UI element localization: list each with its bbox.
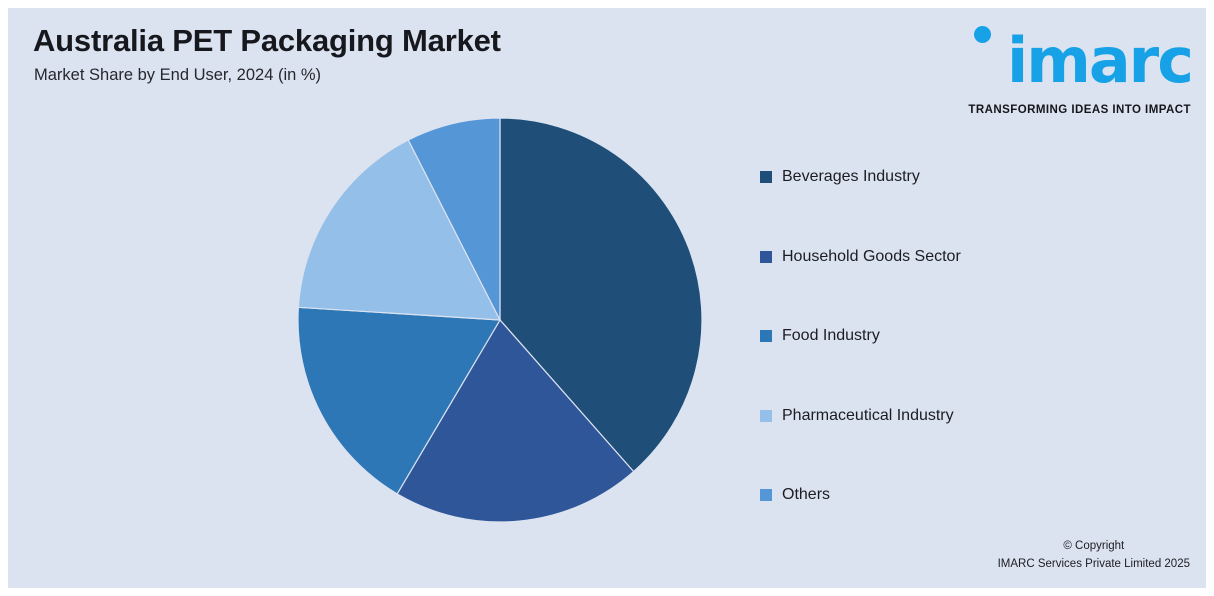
legend-item-label: Others <box>782 486 830 504</box>
legend-item-label: Household Goods Sector <box>782 248 961 266</box>
logo-wordmark: imarc <box>1007 30 1192 92</box>
chart-legend: Beverages Industry Household Goods Secto… <box>760 168 1180 566</box>
legend-item[interactable]: Pharmaceutical Industry <box>760 407 1180 487</box>
legend-item-label: Beverages Industry <box>782 168 920 186</box>
copyright-notice: © Copyright IMARC Services Private Limit… <box>998 538 1190 574</box>
logo-tagline: TRANSFORMING IDEAS INTO IMPACT <box>968 104 1191 116</box>
pie-chart <box>8 8 748 588</box>
legend-item-label: Food Industry <box>782 327 880 345</box>
legend-item[interactable]: Household Goods Sector <box>760 248 1180 328</box>
legend-swatch-icon <box>760 489 772 501</box>
copyright-line-2: IMARC Services Private Limited 2025 <box>998 556 1190 574</box>
logo-dot-icon <box>974 26 991 43</box>
pie-chart-svg <box>290 110 710 530</box>
legend-swatch-icon <box>760 251 772 263</box>
pie-slice-group <box>298 118 702 522</box>
legend-item-label: Pharmaceutical Industry <box>782 407 954 425</box>
chart-panel: Australia PET Packaging Market Market Sh… <box>8 8 1206 588</box>
imarc-logo: imarc TRANSFORMING IDEAS INTO IMPACT <box>952 22 1192 118</box>
legend-item[interactable]: Food Industry <box>760 327 1180 407</box>
copyright-line-1: © Copyright <box>998 538 1190 556</box>
legend-swatch-icon <box>760 171 772 183</box>
legend-item[interactable]: Beverages Industry <box>760 168 1180 248</box>
legend-swatch-icon <box>760 410 772 422</box>
legend-swatch-icon <box>760 330 772 342</box>
